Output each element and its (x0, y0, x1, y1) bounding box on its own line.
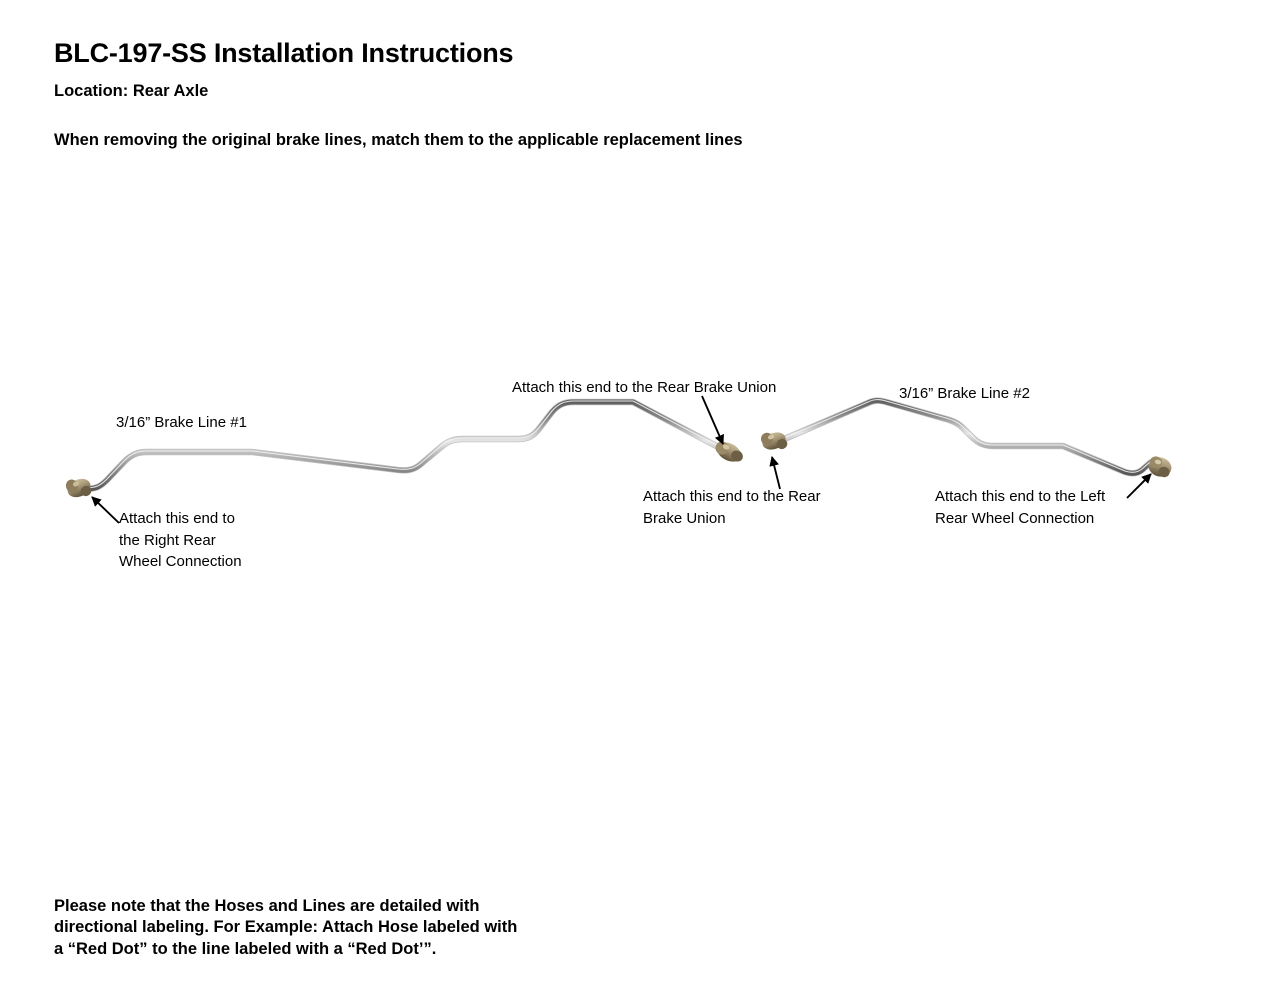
label-brake-line-1: 3/16” Brake Line #1 (116, 412, 247, 434)
brake-line-2-left-fitting (759, 429, 789, 452)
arrow-right-rear-wheel (92, 497, 119, 523)
brake-line-1-left-fitting (64, 475, 94, 500)
arrow-rear-brake-union-lower (772, 457, 780, 489)
document-page: BLC-197-SS Installation Instructions Loc… (0, 0, 1280, 989)
label-rear-brake-union-upper: Attach this end to the Rear Brake Union (512, 377, 776, 399)
label-rear-brake-union-lower: Attach this end to the Rear Brake Union (643, 486, 821, 529)
label-brake-line-2: 3/16” Brake Line #2 (899, 383, 1030, 405)
arrow-left-rear-wheel (1127, 474, 1151, 498)
brake-line-1-right-fitting (713, 438, 745, 465)
brake-line-2-tube (782, 401, 1166, 474)
label-right-rear-wheel-connection: Attach this end to the Right Rear Wheel … (119, 508, 242, 573)
footer-note: Please note that the Hoses and Lines are… (54, 896, 524, 961)
label-left-rear-wheel-connection: Attach this end to the Left Rear Wheel C… (935, 486, 1105, 529)
brake-line-2-group (759, 400, 1173, 479)
